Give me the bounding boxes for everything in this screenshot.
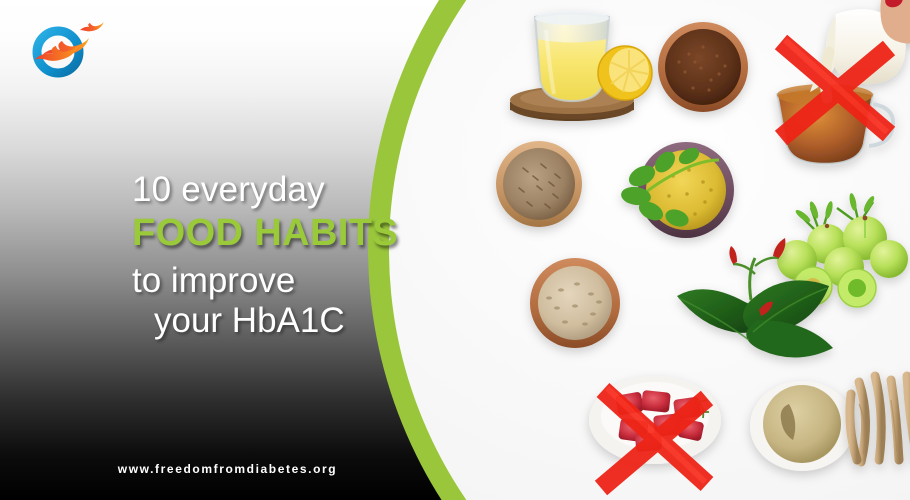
headline-line-2: FOOD HABITS [132,214,432,254]
website-url[interactable]: www.freedomfromdiabetes.org [0,462,455,476]
food-shatavari-roots [850,376,910,462]
food-panel [389,0,910,500]
food-fenugreek-sprout-bowl [620,142,734,238]
brand-logo[interactable] [28,20,104,86]
headline-block: 10 everyday FOOD HABITS to improve your … [132,172,432,340]
food-red-meat-plate [589,376,721,488]
food-spice-powder-bowl [750,381,854,471]
food-collage [389,0,910,500]
food-barley-bowl [530,258,620,348]
promo-banner: 10 everyday FOOD HABITS to improve your … [0,0,910,500]
food-lemon-water-glass [510,11,652,121]
headline-line-1: 10 everyday [132,172,432,208]
food-milk-tea-cup [777,0,910,164]
food-flaxseed-bowl [658,22,748,112]
food-cumin-seed-bowl [496,141,582,227]
headline-line-3: to improve [132,263,432,299]
bird-circle-logo-icon [28,20,104,86]
headline-line-4: your HbA1C [132,303,432,339]
